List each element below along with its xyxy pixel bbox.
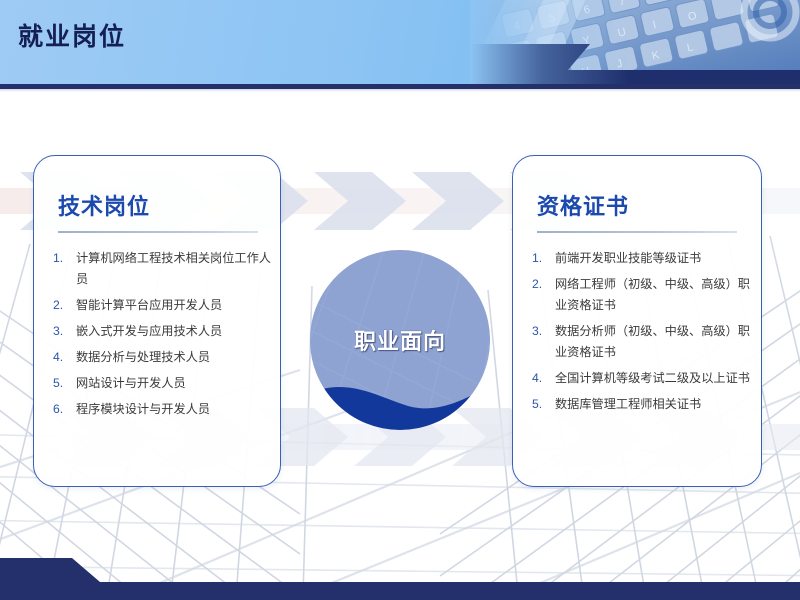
technical-position-item-label: 智能计算平台应用开发人员 xyxy=(76,295,272,316)
certificates-list: 1.前端开发职业技能等级证书2.网络工程师（初级、中级、高级）职业资格证书3.数… xyxy=(529,248,751,420)
certificate-item-number: 1. xyxy=(529,248,555,269)
technical-positions-list: 1.计算机网络工程技术相关岗位工作人员2.智能计算平台应用开发人员3.嵌入式开发… xyxy=(50,248,272,425)
certificate-item: 1.前端开发职业技能等级证书 xyxy=(529,248,751,269)
technical-position-item: 6.程序模块设计与开发人员 xyxy=(50,399,272,420)
keyboard-photo-icon: 45 67 89 RT YU IO FG HJ KL xyxy=(470,0,800,84)
certificate-item-label: 前端开发职业技能等级证书 xyxy=(555,248,751,269)
technical-position-item-label: 网站设计与开发人员 xyxy=(76,373,272,394)
technical-position-item-label: 程序模块设计与开发人员 xyxy=(76,399,272,420)
certificate-item-number: 5. xyxy=(529,394,555,415)
slide-root: 45 67 89 RT YU IO FG HJ KL xyxy=(0,0,800,600)
technical-position-item-number: 4. xyxy=(50,347,76,368)
certificate-item: 3.数据分析师（初级、中级、高级）职业资格证书 xyxy=(529,321,751,363)
right-card-heading: 资格证书 xyxy=(537,189,629,221)
technical-position-item-number: 5. xyxy=(50,373,76,394)
certificate-item-label: 数据库管理工程师相关证书 xyxy=(555,394,751,415)
left-card-heading: 技术岗位 xyxy=(58,189,150,221)
technical-position-item: 2.智能计算平台应用开发人员 xyxy=(50,295,272,316)
certificates-card: 资格证书 1.前端开发职业技能等级证书2.网络工程师（初级、中级、高级）职业资格… xyxy=(512,155,762,487)
left-card-rule xyxy=(58,231,258,233)
certificate-item-label: 网络工程师（初级、中级、高级）职业资格证书 xyxy=(555,274,751,316)
header-divider-shadow xyxy=(0,89,800,92)
technical-position-item-label: 嵌入式开发与应用技术人员 xyxy=(76,321,272,342)
technical-position-item-number: 3. xyxy=(50,321,76,342)
circle-label: 职业面向 xyxy=(310,250,490,430)
technical-position-item-label: 数据分析与处理技术人员 xyxy=(76,347,272,368)
technical-position-item-number: 2. xyxy=(50,295,76,316)
technical-position-item: 1.计算机网络工程技术相关岗位工作人员 xyxy=(50,248,272,290)
certificate-item-label: 全国计算机等级考试二级及以上证书 xyxy=(555,368,751,389)
certificate-item-label: 数据分析师（初级、中级、高级）职业资格证书 xyxy=(555,321,751,363)
technical-position-item: 5.网站设计与开发人员 xyxy=(50,373,272,394)
certificate-item: 4.全国计算机等级考试二级及以上证书 xyxy=(529,368,751,389)
technical-position-item-number: 6. xyxy=(50,399,76,420)
certificate-item-number: 2. xyxy=(529,274,555,295)
certificate-item: 5.数据库管理工程师相关证书 xyxy=(529,394,751,415)
technical-positions-card: 技术岗位 1.计算机网络工程技术相关岗位工作人员2.智能计算平台应用开发人员3.… xyxy=(33,155,281,487)
technical-position-item: 4.数据分析与处理技术人员 xyxy=(50,347,272,368)
right-card-rule xyxy=(537,231,737,233)
certificate-item-number: 4. xyxy=(529,368,555,389)
technical-position-item: 3.嵌入式开发与应用技术人员 xyxy=(50,321,272,342)
technical-position-item-number: 1. xyxy=(50,248,76,269)
technical-position-item-label: 计算机网络工程技术相关岗位工作人员 xyxy=(76,248,272,290)
certificate-item: 2.网络工程师（初级、中级、高级）职业资格证书 xyxy=(529,274,751,316)
page-title: 就业岗位 xyxy=(18,20,126,54)
certificate-item-number: 3. xyxy=(529,321,555,342)
